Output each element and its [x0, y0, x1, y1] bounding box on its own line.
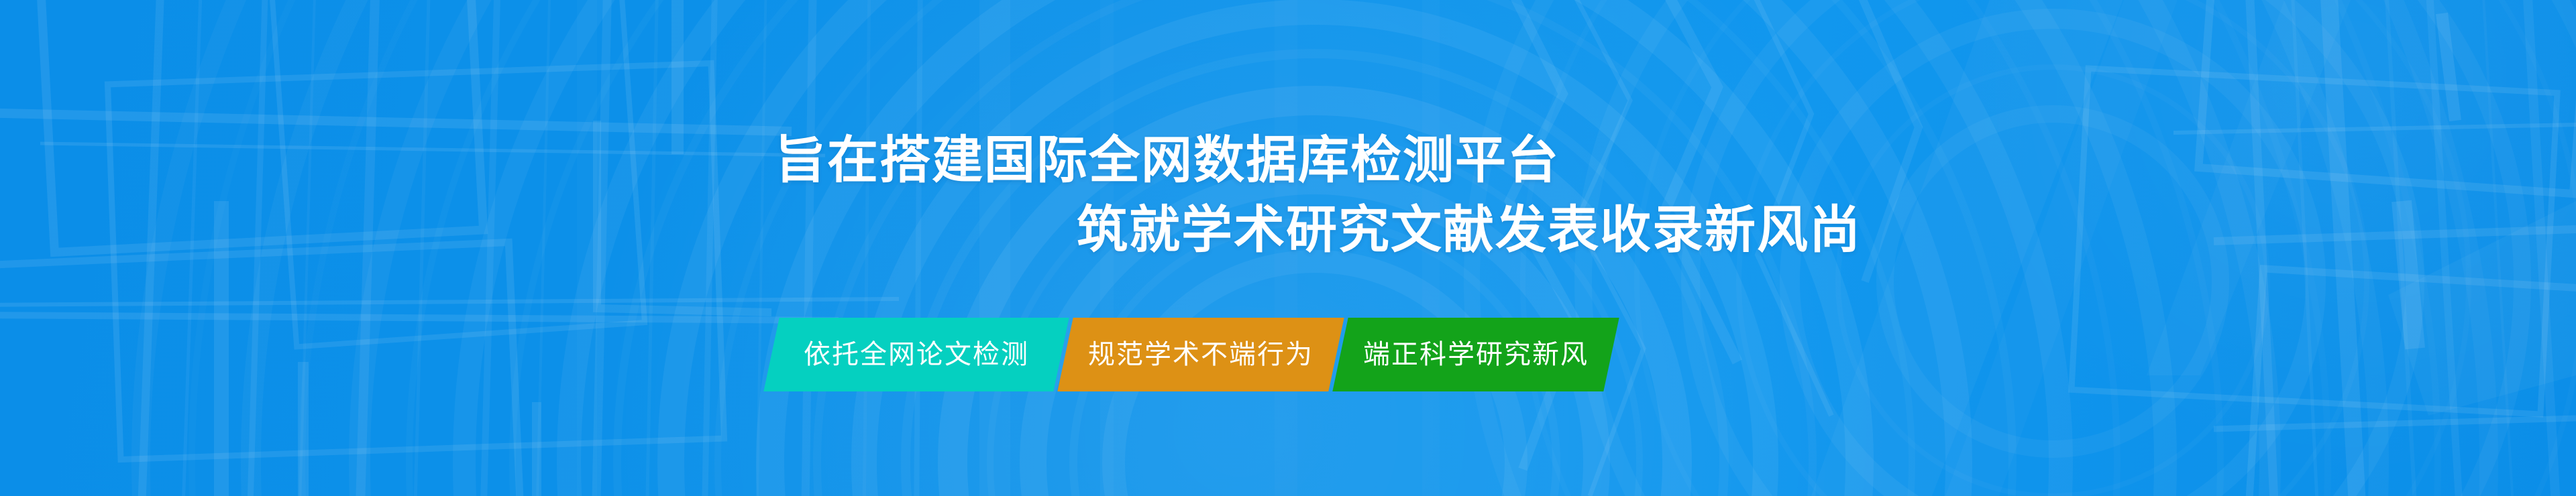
- feature-tag-misconduct[interactable]: 规范学术不端行为: [1057, 318, 1344, 391]
- feature-tag-detection[interactable]: 依托全网论文检测: [763, 318, 1069, 391]
- banner-content: 旨在搭建国际全网数据库检测平台 筑就学术研究文献发表收录新风尚 依托全网论文检测…: [0, 0, 2576, 496]
- headline-line-1: 旨在搭建国际全网数据库检测平台: [775, 133, 1560, 189]
- feature-tag-misconduct-label: 规范学术不端行为: [1088, 340, 1313, 369]
- promo-banner: 旨在搭建国际全网数据库检测平台 筑就学术研究文献发表收录新风尚 依托全网论文检测…: [0, 0, 2576, 496]
- feature-tag-detection-label: 依托全网论文检测: [804, 340, 1029, 369]
- headline-line-2: 筑就学术研究文献发表收录新风尚: [1077, 202, 1862, 259]
- feature-tag-research-ethos[interactable]: 端正科学研究新风: [1332, 318, 1619, 391]
- feature-tag-research-ethos-label: 端正科学研究新风: [1363, 340, 1589, 369]
- feature-tag-strip: 依托全网论文检测 规范学术不端行为 端正科学研究新风: [771, 318, 1611, 391]
